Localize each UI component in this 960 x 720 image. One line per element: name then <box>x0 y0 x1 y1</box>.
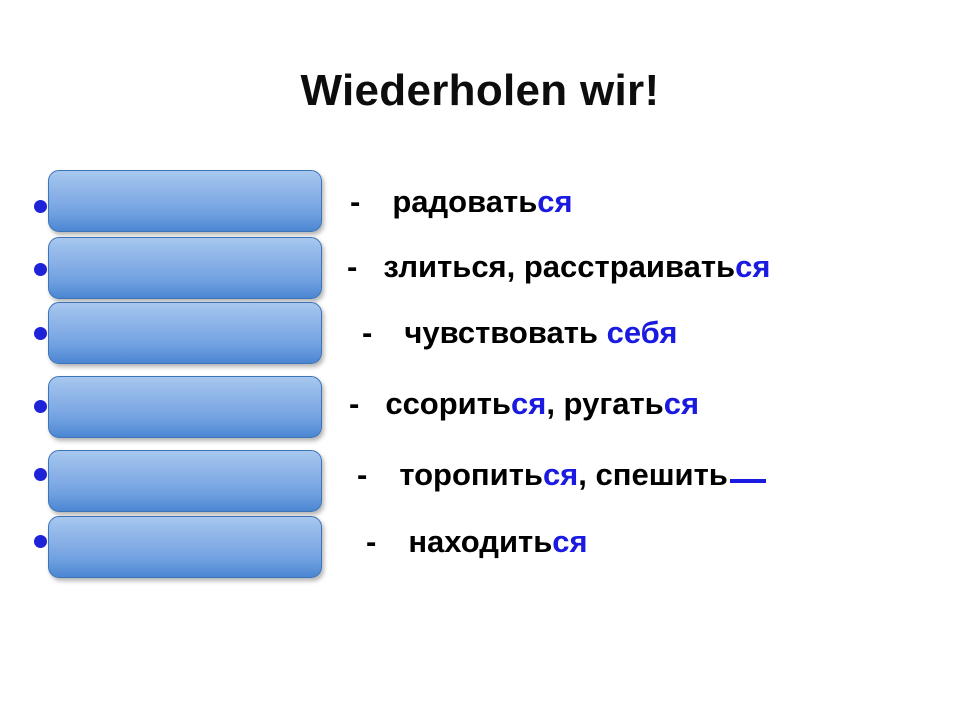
dash-marker: - <box>357 457 367 492</box>
hidden-answer-box[interactable] <box>48 516 322 578</box>
hidden-answer-box[interactable] <box>48 170 322 232</box>
hidden-answer-box[interactable] <box>48 237 322 299</box>
dash-marker: - <box>362 315 372 350</box>
definition-suffix: ся <box>552 524 587 559</box>
dash-marker: - <box>350 184 360 219</box>
definition-text: -находиться <box>366 526 588 557</box>
hidden-answer-box[interactable] <box>48 302 322 364</box>
hidden-answer-box[interactable] <box>48 450 322 512</box>
slide-canvas: Wiederholen wir! -радоваться -злиться, р… <box>0 0 960 720</box>
definition-word: торопить <box>399 457 543 492</box>
definition-text: -радоваться <box>350 186 573 217</box>
definition-word: злиться, расстраивать <box>383 249 735 284</box>
definition-word-2: , ругать <box>546 386 663 421</box>
dash-marker: - <box>366 524 376 559</box>
definition-text: -злиться, расстраиваться <box>347 251 770 282</box>
definition-suffix: себя <box>607 315 678 350</box>
definition-word: находить <box>408 524 552 559</box>
definition-suffix: ся <box>543 457 578 492</box>
fill-in-blank[interactable] <box>730 479 766 483</box>
definition-suffix-2: ся <box>664 386 699 421</box>
hidden-answer-box[interactable] <box>48 376 322 438</box>
definition-text: -торопиться, спешить <box>357 459 766 490</box>
definition-text: -чувствовать себя <box>362 317 678 348</box>
definition-text: -ссориться, ругаться <box>349 388 699 419</box>
definition-suffix: ся <box>511 386 546 421</box>
definition-word-2: , спешить <box>578 457 728 492</box>
page-title: Wiederholen wir! <box>0 66 960 116</box>
definition-suffix: ся <box>735 249 770 284</box>
dash-marker: - <box>347 249 357 284</box>
dash-marker: - <box>349 386 359 421</box>
bullet-dot-icon <box>34 327 47 340</box>
definition-word: радовать <box>392 184 537 219</box>
bullet-dot-icon <box>34 535 47 548</box>
definition-word: чувствовать <box>404 315 606 350</box>
bullet-dot-icon <box>34 200 47 213</box>
bullet-dot-icon <box>34 400 47 413</box>
definition-word: ссорить <box>385 386 511 421</box>
bullet-dot-icon <box>34 263 47 276</box>
definition-suffix: ся <box>537 184 572 219</box>
bullet-dot-icon <box>34 468 47 481</box>
